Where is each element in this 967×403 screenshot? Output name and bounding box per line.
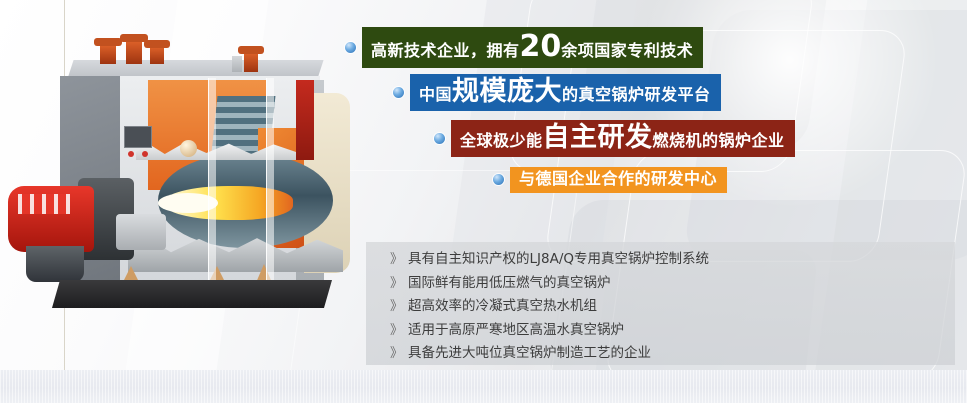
- bottom-texture-strip: [0, 370, 967, 403]
- blue-dot-icon: [345, 42, 356, 53]
- highlight-row-hi-tech-enterprise[interactable]: 高新技术企业，拥有20余项国家专利技术: [345, 27, 703, 68]
- highlight-text-part: 全球极少能: [460, 131, 543, 150]
- highlight-bar-hi-tech-enterprise: 高新技术企业，拥有20余项国家专利技术: [362, 27, 703, 68]
- top-valve: [232, 56, 242, 72]
- highlight-bar-self-developed-burner: 全球极少能自主研发燃烧机的锅炉企业: [451, 120, 795, 157]
- top-nozzle-flange: [94, 38, 122, 46]
- burner-vents: [18, 194, 70, 214]
- highlight-row-german-rd-center[interactable]: 与德国企业合作的研发中心: [493, 167, 727, 193]
- list-item-label: 国际鲜有能用低压燃气的真空锅炉: [408, 272, 611, 295]
- highlight-text-part: 与德国企业合作的研发中心: [519, 169, 717, 188]
- highlight-text-part: 余项国家专利技术: [561, 41, 693, 60]
- top-nozzle: [126, 40, 142, 64]
- blue-dot-icon: [493, 174, 504, 185]
- highlight-emphasis: 规模庞大: [452, 76, 562, 107]
- list-item-label: 具备先进大吨位真空锅炉制造工艺的企业: [408, 342, 651, 365]
- sphere-detail: [180, 140, 197, 157]
- chevron-right-icon: 》: [390, 296, 403, 319]
- highlight-text-part: 高新技术企业，拥有: [371, 41, 520, 60]
- list-item-label: 适用于高原严寒地区高温水真空锅炉: [408, 319, 624, 342]
- highlight-emphasis: 自主研发: [543, 122, 653, 153]
- cutaway-mullion: [266, 78, 274, 300]
- top-nozzle-flange: [144, 40, 170, 48]
- chevron-right-icon: 》: [390, 249, 403, 272]
- boiler-product-image: [8, 18, 368, 348]
- cabinet-base-frame: [52, 280, 332, 308]
- chevron-right-icon: 》: [390, 320, 403, 343]
- top-nozzle-flange: [238, 46, 264, 54]
- top-nozzle: [100, 44, 116, 64]
- indicator-led: [142, 151, 148, 157]
- chevron-right-icon: 》: [390, 273, 403, 296]
- list-item: 》 具备先进大吨位真空锅炉制造工艺的企业: [390, 342, 950, 366]
- feature-list: 》 具有自主知识产权的LJ8A/Q专用真空锅炉控制系统 》 国际鲜有能用低压燃气…: [390, 248, 950, 366]
- top-nozzle: [244, 52, 258, 72]
- indicator-led: [128, 151, 134, 157]
- highlight-bar-largest-rd-platform: 中国规模庞大的真空锅炉研发平台: [410, 74, 721, 111]
- top-nozzle: [150, 46, 164, 64]
- list-item-label: 超高效率的冷凝式真空热水机组: [408, 295, 597, 318]
- highlight-text-part: 中国: [419, 85, 452, 104]
- list-item-label: 具有自主知识产权的LJ8A/Q专用真空锅炉控制系统: [408, 248, 709, 271]
- highlight-row-self-developed-burner[interactable]: 全球极少能自主研发燃烧机的锅炉企业: [434, 120, 795, 157]
- highlight-row-largest-rd-platform[interactable]: 中国规模庞大的真空锅炉研发平台: [393, 74, 721, 111]
- burner-blower: [116, 214, 166, 250]
- list-item: 》 国际鲜有能用低压燃气的真空锅炉: [390, 272, 950, 296]
- highlight-number: 20: [520, 29, 562, 64]
- list-item: 》 超高效率的冷凝式真空热水机组: [390, 295, 950, 319]
- blue-dot-icon: [434, 133, 445, 144]
- chevron-right-icon: 》: [390, 343, 403, 366]
- highlight-text-part: 燃烧机的锅炉企业: [653, 131, 785, 150]
- promo-banner: 高新技术企业，拥有20余项国家专利技术 中国规模庞大的真空锅炉研发平台 全球极少…: [0, 0, 967, 403]
- list-item: 》 适用于高原严寒地区高温水真空锅炉: [390, 319, 950, 343]
- control-panel-display: [124, 126, 152, 148]
- list-item: 》 具有自主知识产权的LJ8A/Q专用真空锅炉控制系统: [390, 248, 950, 272]
- burner-base: [26, 246, 84, 282]
- blue-dot-icon: [393, 87, 404, 98]
- highlight-bar-german-rd-center: 与德国企业合作的研发中心: [510, 167, 727, 193]
- highlight-text-part: 的真空锅炉研发平台: [562, 85, 711, 104]
- cutaway-mullion: [208, 78, 216, 300]
- red-divider-plate: [296, 80, 314, 160]
